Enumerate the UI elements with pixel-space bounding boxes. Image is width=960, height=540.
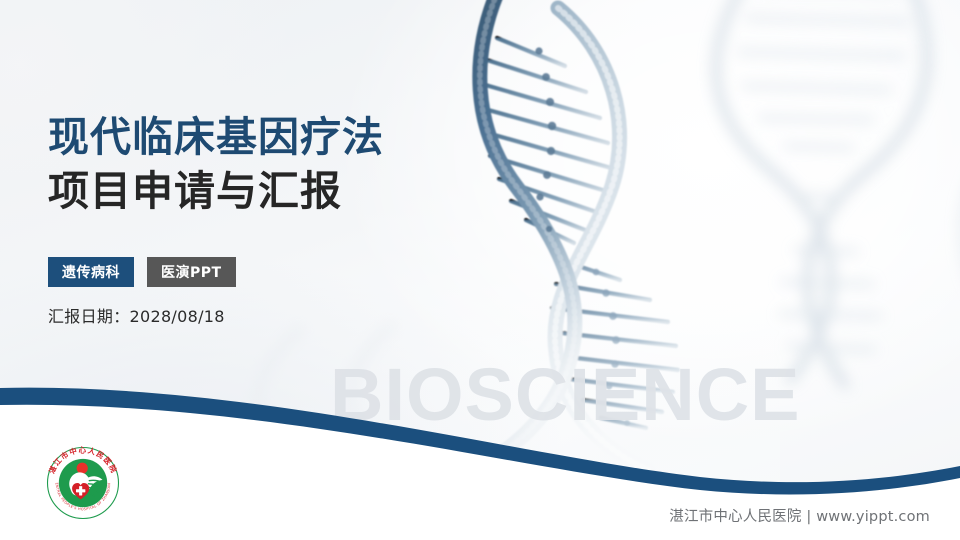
badge-template[interactable]: 医演PPT [147,257,236,287]
report-date: 汇报日期：2028/08/18 [48,303,225,327]
title-line-secondary: 项目申请与汇报 [48,164,384,218]
badge-department[interactable]: 遗传病科 [48,257,134,287]
hospital-logo: 湛江市中心人民医院 CENTRAL PEOPLE'S HOSPITAL OF Z… [44,444,122,522]
watermark-text: BIOSCIENCE [330,358,801,432]
page-title: 现代临床基因疗法 项目申请与汇报 [48,110,384,218]
presentation-slide: BIOSCIENCE 现代临床基因疗法 项目申请与汇报 遗传病科 医演PPT 汇… [0,0,960,540]
badge-row: 遗传病科 医演PPT [48,257,236,287]
footer-text: 湛江市中心人民医院 | www.yippt.com [669,505,930,526]
title-line-primary: 现代临床基因疗法 [48,110,384,164]
